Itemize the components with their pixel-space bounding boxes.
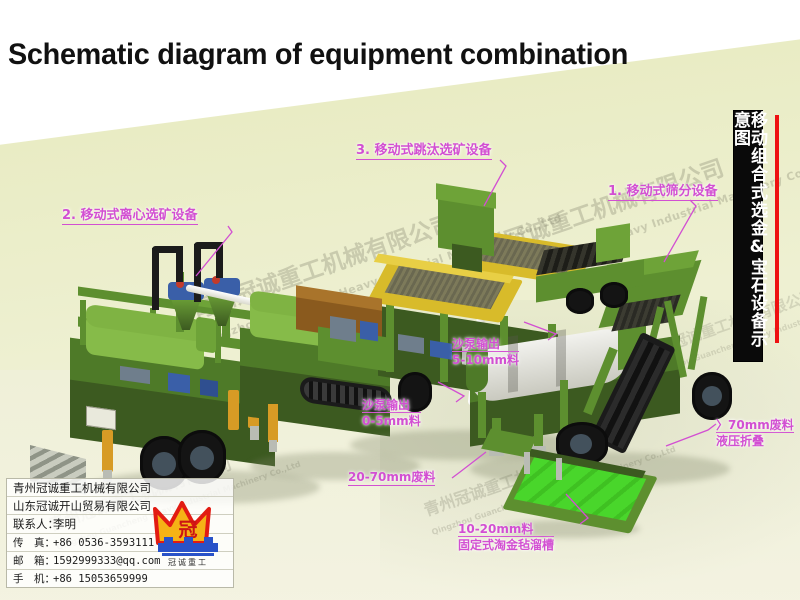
sluice-leg: [524, 452, 530, 474]
company-mobile-row: 手 机：+86 15053659999: [7, 570, 233, 588]
label-line-1: 沙泵输出: [452, 337, 500, 351]
sluice-leg: [556, 458, 562, 480]
feed-pipe: [176, 246, 183, 282]
wheel-rim: [570, 434, 592, 454]
label-pump-output-0-5mm: 沙泵输出 0-5mm料: [362, 398, 421, 428]
drum-end-cap: [196, 317, 216, 354]
hydraulic-leg: [102, 430, 113, 472]
email-value: 1592999333@qq.com: [53, 555, 160, 567]
leg-foot-rod: [250, 426, 259, 440]
vertical-banner: 移动组合式选金&宝石设备示意图: [733, 110, 763, 362]
support-leg: [534, 414, 543, 450]
internal-pump: [168, 372, 190, 393]
label-line-2: 0-5mm料: [362, 412, 421, 428]
label-line-1: 沙泵输出: [362, 398, 410, 412]
logo-subtext: 冠诚重工: [152, 557, 224, 568]
fax-label: 传 真：: [13, 534, 53, 552]
internal-pump: [200, 379, 218, 398]
label-item-3: 3. 移动式跳汰选矿设备: [356, 143, 492, 160]
hydraulic-leg: [228, 390, 239, 430]
mobile-label: 手 机：: [13, 570, 53, 588]
label-pump-output-5-10mm: 沙泵输出 5-10mm料: [452, 337, 519, 367]
wheel-rim: [702, 386, 722, 406]
label-item-1: 1. 移动式筛分设备: [608, 184, 718, 201]
company-logo: 冠 冠诚重工: [152, 497, 224, 569]
company-name-primary: 青州冠诚重工机械有限公司: [7, 479, 233, 497]
logo-base-bar-lower: [162, 553, 214, 556]
feed-chute: [452, 244, 482, 273]
hydraulic-leg: [268, 404, 278, 442]
vertical-banner-text: 移动组合式选金&宝石设备示意图: [731, 111, 765, 361]
feed-pipe: [216, 242, 223, 278]
leg-foot-rod: [269, 440, 277, 452]
wheel-rim: [152, 452, 176, 476]
email-label: 邮 箱：: [13, 552, 53, 570]
logo-base-bar: [158, 543, 218, 552]
fax-value: +86 0536-3593111: [53, 537, 154, 549]
engine-block: [330, 316, 356, 342]
contact-value: 李明: [53, 517, 76, 531]
equipment-nameplate: [86, 406, 116, 430]
trommel-band: [556, 329, 566, 387]
wheel-rim: [190, 446, 214, 470]
label-fixed-sluice: 10-20mm料 固定式淘金毡溜槽: [458, 522, 554, 552]
wheel: [566, 288, 594, 314]
label-line-2: 固定式淘金毡溜槽: [458, 536, 554, 552]
jig-pump: [430, 340, 452, 359]
pump: [360, 321, 378, 342]
red-vertical-rule: [775, 115, 779, 343]
label-line-2: 5-10mm料: [452, 351, 519, 367]
label-line-2: 液压折叠: [716, 432, 794, 448]
contact-label: 联系人：: [13, 515, 53, 533]
label-line-1: 〉70mm废料: [716, 418, 794, 432]
label-waste-20-70mm: 20-70mm废料: [348, 470, 435, 486]
wheel: [600, 282, 628, 308]
trailer-cab: [596, 223, 630, 262]
label-waste-over-70mm: 〉70mm废料 液压折叠: [716, 418, 794, 448]
frame-post: [560, 380, 568, 430]
schematic-canvas: 青州冠诚重工机械有限公司 Qingzhou Guancheng Heavy In…: [0, 0, 800, 600]
feed-pipe: [152, 248, 159, 310]
label-line-1: 10-20mm料: [458, 522, 533, 536]
label-item-2: 2. 移动式离心选矿设备: [62, 208, 198, 225]
page-title: Schematic diagram of equipment combinati…: [8, 38, 628, 72]
mobile-value: +86 15053659999: [53, 573, 148, 585]
frame-post: [478, 392, 486, 438]
